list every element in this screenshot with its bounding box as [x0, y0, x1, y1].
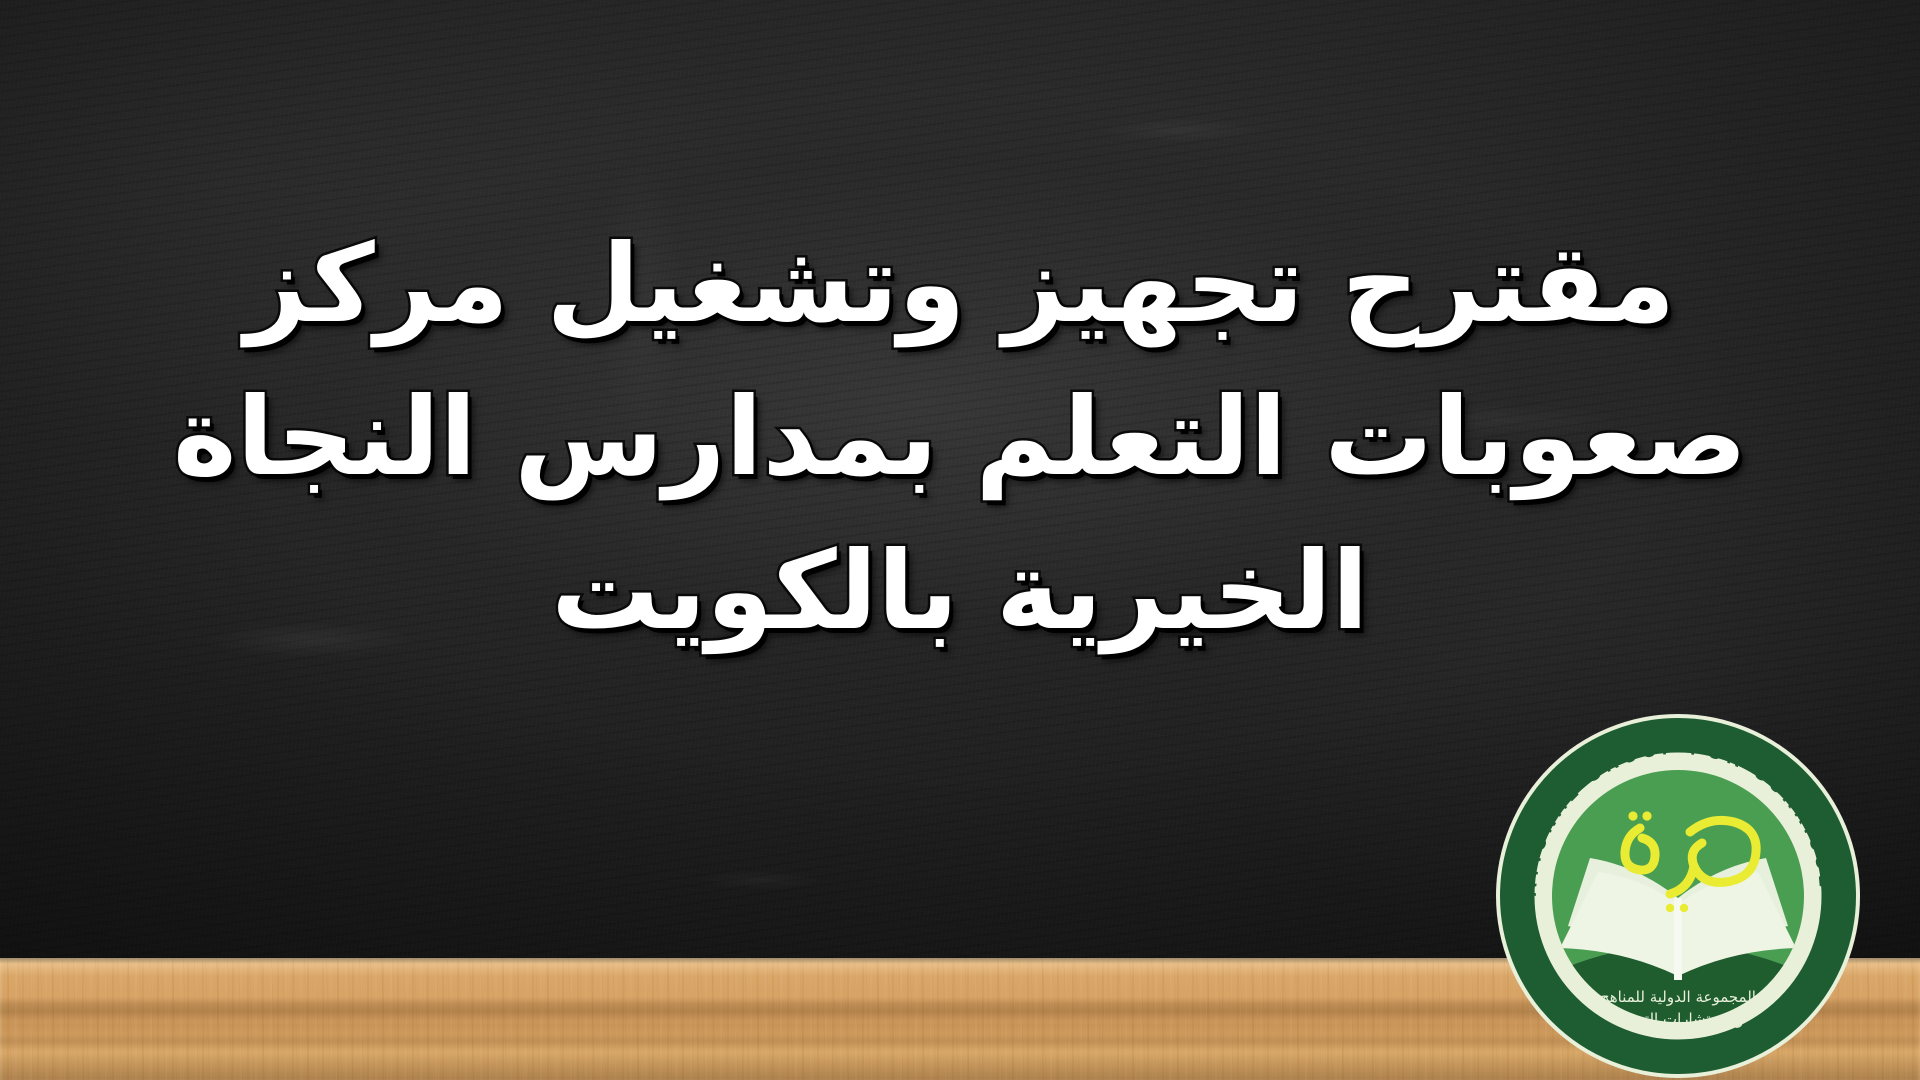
logo-svg: المجموعة الدولية للمناهج والاستشارات الت… — [1494, 712, 1862, 1080]
slide-title: مقترح تجهيز وتشغيل مركز صعوبات التعلم بم… — [0, 208, 1920, 668]
monogram-dot-right — [1642, 811, 1651, 820]
monogram-dot-lower-left — [1666, 904, 1674, 912]
logo-arabic-line-2: والاستشارات التربوية — [1613, 1010, 1744, 1028]
logo-arabic-line-1: المجموعة الدولية للمناهج — [1600, 988, 1756, 1006]
title-line-1: مقترح تجهيز وتشغيل مركز — [0, 208, 1920, 361]
slide-canvas: مقترح تجهيز وتشغيل مركز صعوبات التعلم بم… — [0, 0, 1920, 1080]
title-line-2: صعوبات التعلم بمدارس النجاة — [0, 361, 1920, 514]
organisation-logo: المجموعة الدولية للمناهج والاستشارات الت… — [1494, 712, 1862, 1080]
title-line-3: الخيرية بالكويت — [0, 515, 1920, 668]
monogram-dot-left — [1628, 811, 1637, 820]
monogram-dot-lower-right — [1680, 904, 1688, 912]
